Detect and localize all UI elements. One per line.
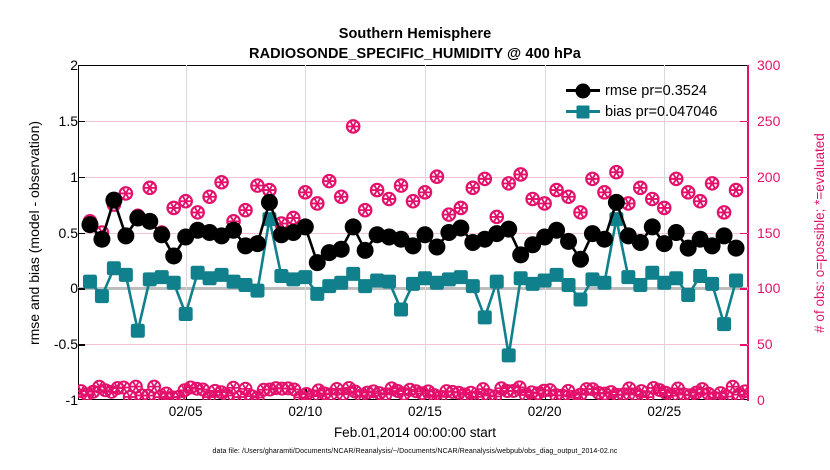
filled-square-icon bbox=[577, 105, 590, 118]
legend-label-bias: bias pr=0.047046 bbox=[605, 104, 717, 120]
x-axis-label: Feb.01,2014 00:00:00 start bbox=[0, 425, 830, 440]
y-tick-label-right: 0 bbox=[757, 392, 807, 408]
legend-item-rmse: rmse pr=0.3524 bbox=[566, 80, 717, 101]
title-line-2: RADIOSONDE_SPECIFIC_HUMIDITY @ 400 hPa bbox=[0, 44, 830, 64]
chart-title: Southern Hemisphere RADIOSONDE_SPECIFIC_… bbox=[0, 24, 830, 64]
x-tick-label: 02/05 bbox=[169, 404, 203, 419]
y-tick-label-right: 200 bbox=[757, 169, 807, 185]
legend: rmse pr=0.3524 bias pr=0.047046 bbox=[566, 80, 717, 122]
legend-line-rmse bbox=[566, 89, 600, 92]
y-tick-label-right: 50 bbox=[757, 336, 807, 352]
y-tick-label-right: 150 bbox=[757, 225, 807, 241]
y-axis-right-label: # of obs: o=possible; *=evaluated bbox=[812, 133, 827, 333]
legend-label-rmse: rmse pr=0.3524 bbox=[605, 83, 707, 99]
y-tick-label-right: 100 bbox=[757, 280, 807, 296]
y-tick-label-right: 250 bbox=[757, 113, 807, 129]
obs-evaluated-markers bbox=[78, 381, 748, 400]
legend-item-bias: bias pr=0.047046 bbox=[566, 101, 717, 122]
y-tick-label-left: -1 bbox=[18, 392, 78, 408]
data-file-caption: data file: /Users/gharamti/Documents/NCA… bbox=[0, 448, 830, 455]
y-axis-left-label: rmse and bias (model - observation) bbox=[26, 120, 42, 344]
x-tick-label: 02/20 bbox=[528, 404, 562, 419]
filled-circle-icon bbox=[576, 83, 591, 98]
x-tick-label: 02/25 bbox=[647, 404, 681, 419]
legend-line-bias bbox=[566, 110, 600, 113]
title-line-1: Southern Hemisphere bbox=[0, 24, 830, 44]
obs-possible-markers bbox=[84, 120, 742, 238]
y-tick-label-left: 2 bbox=[18, 57, 78, 73]
x-tick-label: 02/15 bbox=[408, 404, 442, 419]
chart-page: Southern Hemisphere RADIOSONDE_SPECIFIC_… bbox=[0, 0, 830, 470]
y-tick-label-right: 300 bbox=[757, 57, 807, 73]
x-tick-label: 02/10 bbox=[288, 404, 322, 419]
